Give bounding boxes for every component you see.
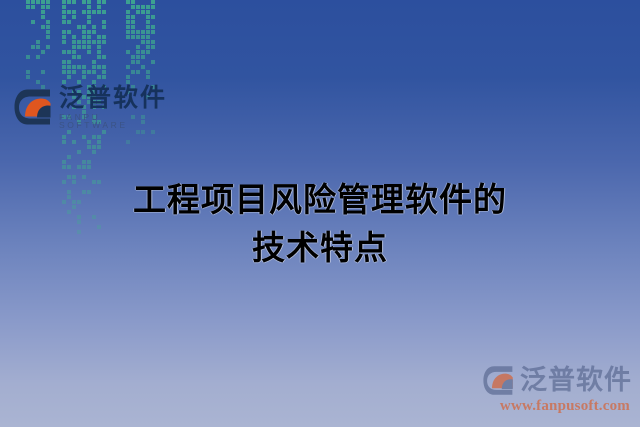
watermark: 泛普软件 www.fanpusoft.com: [432, 363, 632, 419]
brand-logo: 泛普软件 FANPU SOFTWARE: [13, 84, 173, 130]
fanpu-logo-icon: [13, 88, 53, 126]
fanpu-logo-icon: [482, 365, 515, 396]
page-title-line-1: 工程项目风险管理软件的: [0, 176, 640, 224]
brand-name-en: FANPU SOFTWARE: [59, 113, 173, 130]
brand-name-cn: 泛普软件: [59, 85, 173, 110]
page-title-line-2: 技术特点: [0, 224, 640, 272]
watermark-url: www.fanpusoft.com: [432, 398, 632, 415]
page-title: 工程项目风险管理软件的 技术特点: [0, 176, 640, 272]
watermark-brand-name: 泛普软件: [520, 367, 632, 394]
watermark-row: 泛普软件: [432, 363, 632, 397]
brand-wordmark: 泛普软件 FANPU SOFTWARE: [59, 85, 173, 130]
slide-canvas: 泛普软件 FANPU SOFTWARE 工程项目风险管理软件的 技术特点 泛普软…: [0, 0, 640, 427]
pixel-skyline-icon: [26, 0, 186, 92]
